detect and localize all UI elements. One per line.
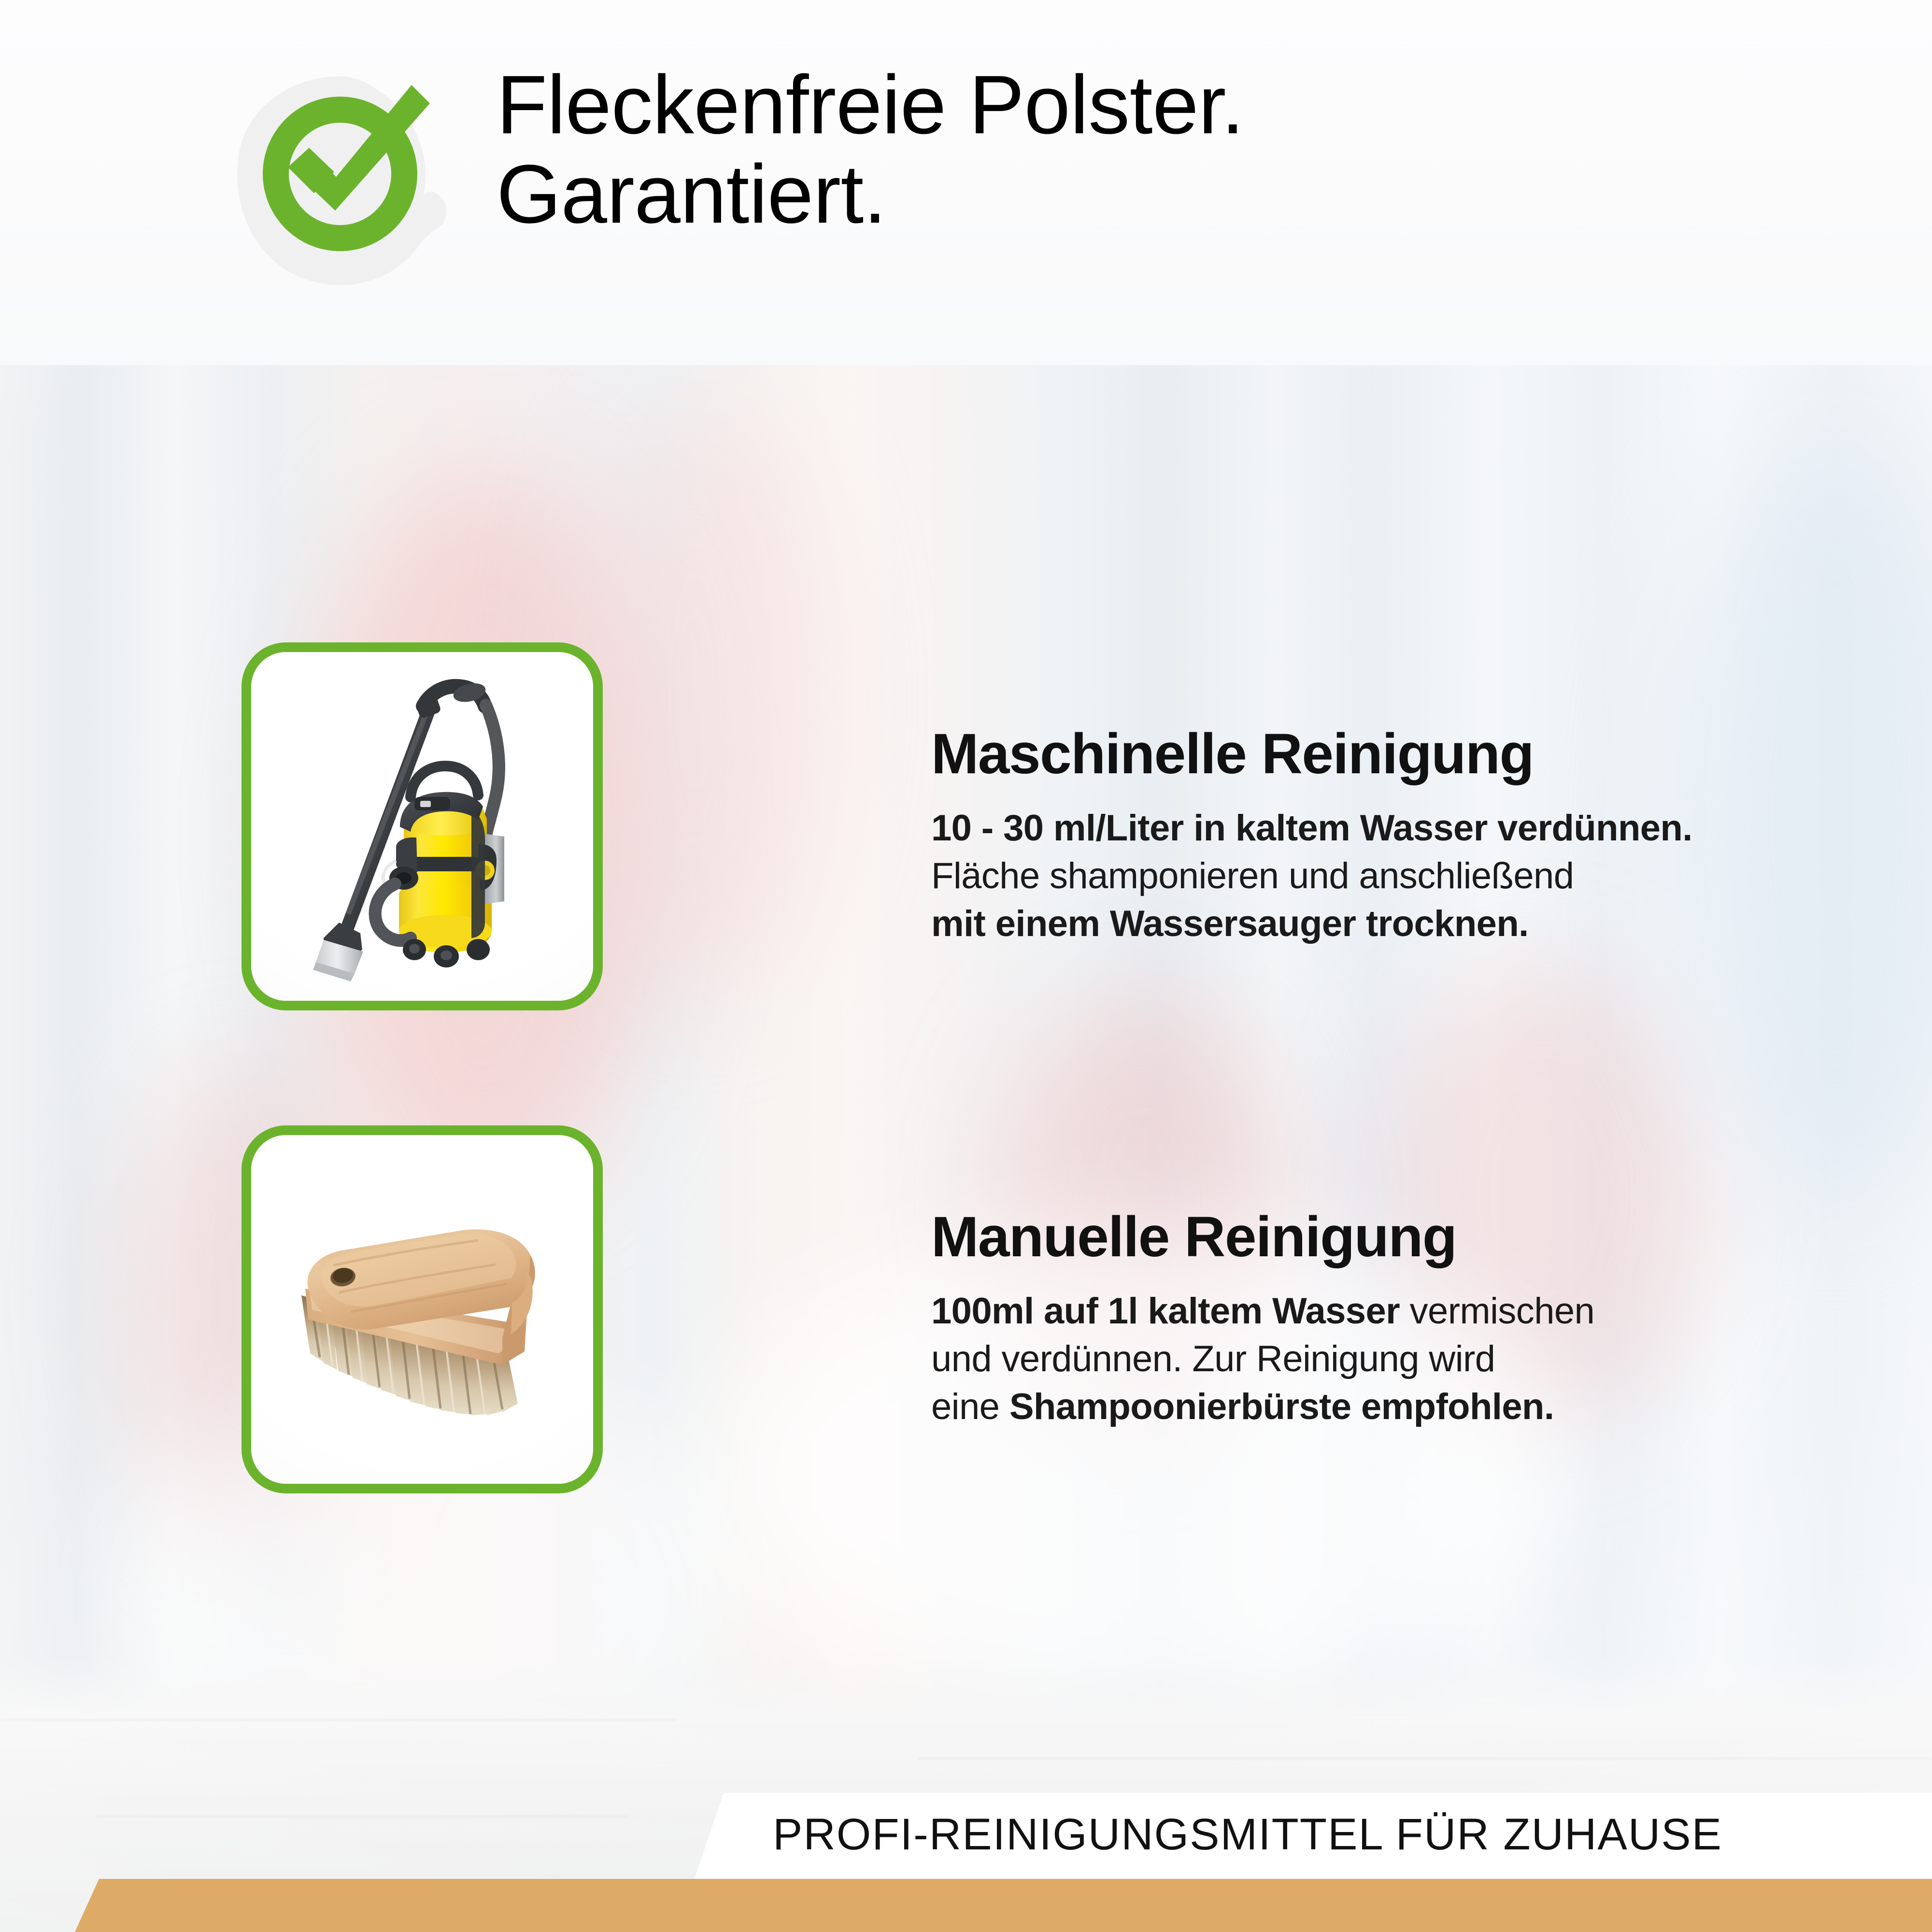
feature-text-block: Manuelle Reinigung 100ml auf 1l kaltem W…: [931, 1208, 1932, 1431]
carpet-cleaner-vacuum-icon: [251, 652, 593, 1001]
feature-heading: Manuelle Reinigung: [931, 1208, 1932, 1265]
page-title: Fleckenfreie Polster. Garantiert.: [497, 62, 1849, 238]
feature-body-line: 10 - 30 ml/Liter in kaltem Wasser verdün…: [931, 805, 1932, 852]
feature-heading: Maschinelle Reinigung: [931, 725, 1932, 782]
title-line-2: Garantiert.: [497, 151, 1849, 238]
footer-banner: PROFI-REINIGUNGSMITTEL FÜR ZUHAUSE: [667, 1793, 1932, 1883]
feature-body: 100ml auf 1l kaltem Wasser vermischen un…: [931, 1288, 1932, 1431]
feature-text-block: Maschinelle Reinigung 10 - 30 ml/Liter i…: [931, 725, 1932, 948]
feature-image-frame: [241, 642, 603, 1010]
footer-accent-band: [0, 1879, 1932, 1932]
footer-tagline: PROFI-REINIGUNGSMITTEL FÜR ZUHAUSE: [773, 1809, 1722, 1860]
feature-body-line: und verdünnen. Zur Reinigung wird: [931, 1335, 1932, 1383]
feature-image-frame: [241, 1125, 603, 1493]
feature-body-line: Fläche shamponieren und anschließend: [931, 852, 1932, 900]
scrubbing-brush-icon: [251, 1135, 593, 1484]
header-bar: Fleckenfreie Polster. Garantiert.: [0, 0, 1932, 365]
feature-body: 10 - 30 ml/Liter in kaltem Wasser verdün…: [931, 805, 1932, 948]
product-infographic: Fleckenfreie Polster. Garantiert.: [0, 0, 1932, 1932]
feature-body-line: mit einem Wassersauger trocknen.: [931, 900, 1932, 948]
feature-body-line: eine Shampoonierbürste empfohlen.: [931, 1383, 1932, 1431]
green-check-circle-icon: [231, 71, 449, 290]
title-line-1: Fleckenfreie Polster.: [497, 62, 1849, 148]
feature-body-line: 100ml auf 1l kaltem Wasser vermischen: [931, 1288, 1932, 1335]
